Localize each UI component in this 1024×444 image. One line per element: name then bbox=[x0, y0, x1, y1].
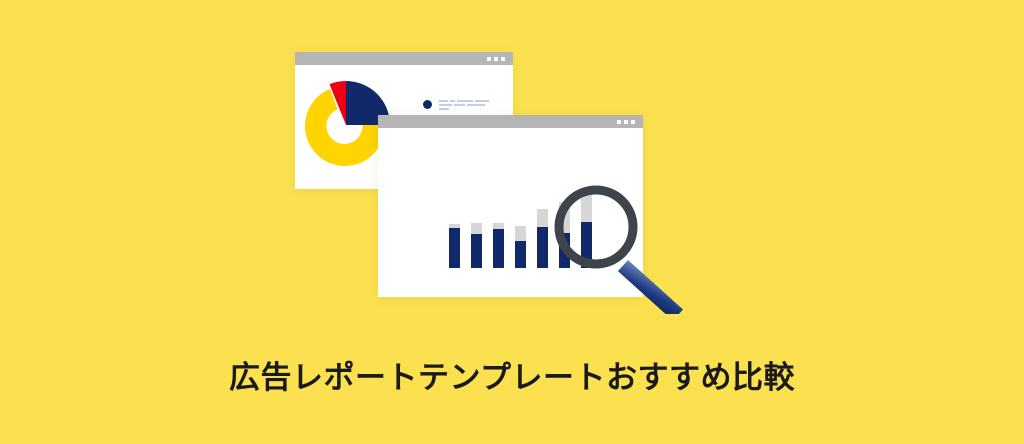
bar-7-actual-segment bbox=[581, 222, 592, 268]
bar-2 bbox=[471, 223, 482, 268]
window-dot-1 bbox=[617, 120, 621, 124]
window-dot-3 bbox=[501, 57, 505, 61]
bar-5-target-segment bbox=[537, 209, 548, 227]
window-dot-2 bbox=[494, 57, 498, 61]
stacked-bar-chart bbox=[378, 128, 643, 297]
legend-label-navy bbox=[439, 99, 503, 112]
bar-2-target-segment bbox=[471, 223, 482, 234]
bar-5 bbox=[537, 209, 548, 268]
window-dot-3 bbox=[631, 120, 635, 124]
bar-4-actual-segment bbox=[515, 241, 526, 268]
bar-1-actual-segment bbox=[449, 228, 460, 268]
bar-2-actual-segment bbox=[471, 234, 482, 268]
window-controls-bar[interactable] bbox=[617, 120, 635, 124]
window-dot-2 bbox=[624, 120, 628, 124]
bar-3 bbox=[493, 223, 504, 268]
bar-1 bbox=[449, 224, 460, 268]
illustration-canvas: 広告レポートテンプレートおすすめ比較 bbox=[0, 0, 1024, 444]
page-title: 広告レポートテンプレートおすすめ比較 bbox=[0, 352, 1024, 397]
bar-7 bbox=[581, 193, 592, 268]
legend-item[interactable] bbox=[423, 99, 503, 112]
bar-6-actual-segment bbox=[559, 233, 570, 268]
bar-4-target-segment bbox=[515, 226, 526, 241]
bar-3-actual-segment bbox=[493, 229, 504, 268]
window-titlebar-pie bbox=[295, 52, 513, 65]
window-controls-pie[interactable] bbox=[487, 57, 505, 61]
window-titlebar-bar bbox=[378, 115, 643, 128]
bar-6 bbox=[559, 202, 570, 268]
bar-report-window bbox=[378, 115, 643, 297]
bar-7-target-segment bbox=[581, 193, 592, 222]
bar-4 bbox=[515, 226, 526, 268]
bar-5-actual-segment bbox=[537, 227, 548, 268]
bar-6-target-segment bbox=[559, 202, 570, 233]
window-dot-1 bbox=[487, 57, 491, 61]
window-body-bar bbox=[378, 128, 643, 297]
legend-swatch-navy-icon bbox=[423, 100, 432, 109]
